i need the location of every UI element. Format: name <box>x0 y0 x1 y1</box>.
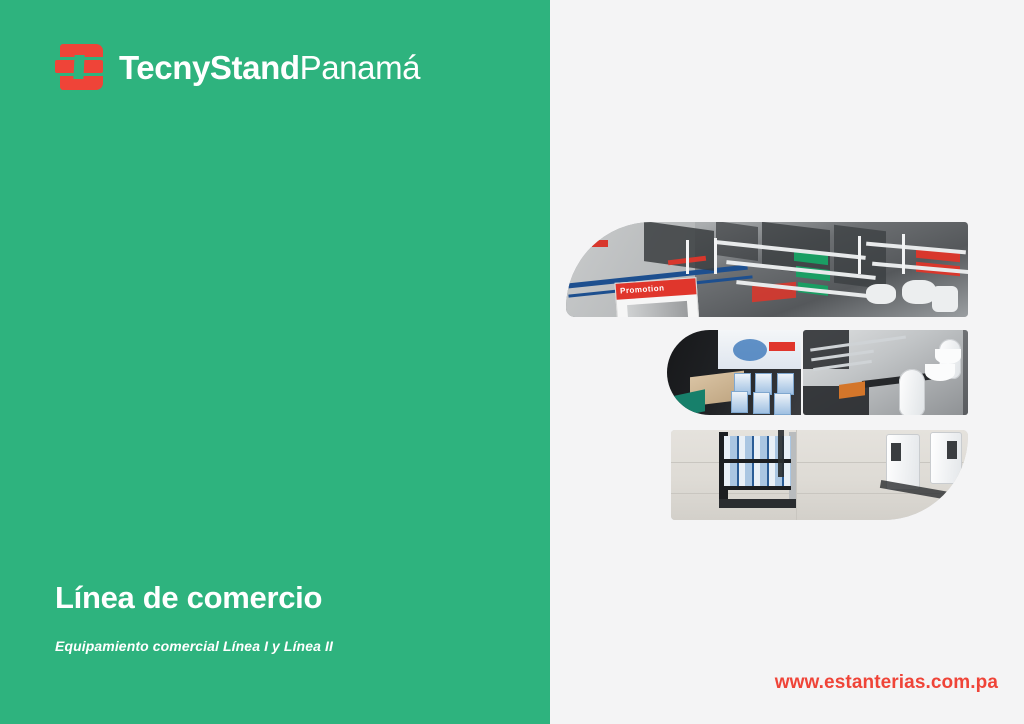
gallery-photo-metal-racks-tanks <box>803 330 968 415</box>
gallery-photo-store-aisle: Promotion <box>566 222 968 317</box>
page-title: Línea de comercio <box>55 580 322 616</box>
website-url[interactable]: www.estanterias.com.pa <box>775 672 998 694</box>
gallery-photo-blue-boxes-display <box>667 330 801 415</box>
photo-promotion-sign: Promotion <box>614 277 699 317</box>
brand-name: TecnyStandPanamá <box>119 51 420 84</box>
brand-name-light: Panamá <box>300 49 421 86</box>
tecnystand-bars-logo-icon <box>55 44 103 90</box>
brand-name-bold: TecnyStand <box>119 49 300 86</box>
photo-gondola <box>719 432 796 502</box>
gallery-photo-store-floor-appliances <box>671 430 968 520</box>
photo-promotion-sign-text: Promotion <box>616 278 697 300</box>
page-subtitle: Equipamiento comercial Línea I y Línea I… <box>55 638 333 654</box>
brand-logo: TecnyStandPanamá <box>55 44 420 90</box>
